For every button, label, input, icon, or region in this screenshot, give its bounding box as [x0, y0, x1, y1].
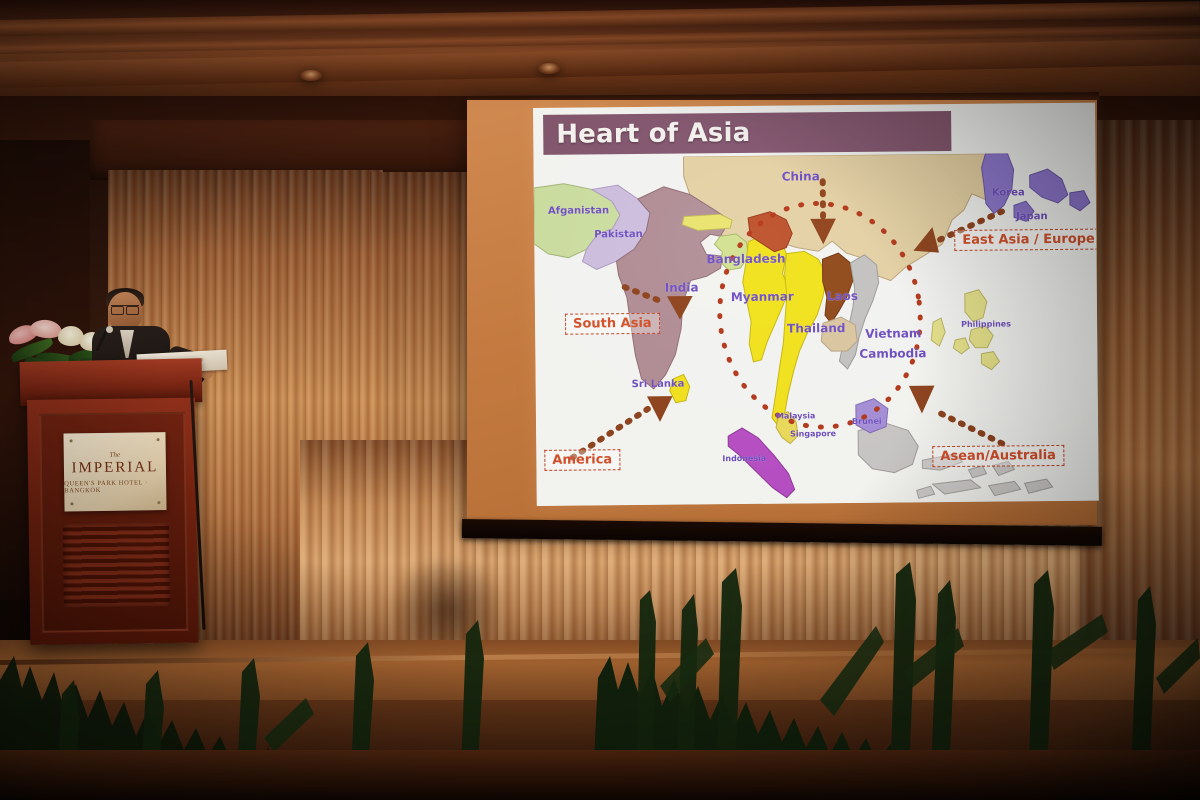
- map-label-afganistan: Afganistan: [548, 205, 609, 217]
- map-label-japan: Japan: [1016, 211, 1048, 222]
- page-title: Heart of Asia: [556, 118, 750, 150]
- map-label-sri-lanka: Sri Lanka: [632, 379, 685, 391]
- ceiling-downlight-icon: [300, 70, 322, 81]
- map-label-brunei: Brunei: [852, 417, 882, 426]
- hotel-plaque-the: The: [109, 450, 120, 458]
- map-label-india: India: [665, 280, 699, 294]
- map-label-korea: Korea: [992, 187, 1025, 198]
- map-label-indonesia: Indonesia: [722, 454, 766, 463]
- map-label-philippines: Philippines: [961, 319, 1011, 328]
- planter-box: [0, 750, 1200, 800]
- speaker-glasses: [111, 305, 139, 313]
- stage-curtain-right: [1080, 120, 1200, 680]
- map-label-cambodia: Cambodia: [859, 346, 926, 361]
- podium-front-panel: The IMPERIAL QUEEN'S PARK HOTEL · BANGKO…: [39, 412, 188, 633]
- map-label-pakistan: Pakistan: [594, 229, 643, 240]
- map-label-china: China: [782, 169, 820, 183]
- callout-america[interactable]: America: [544, 449, 620, 471]
- asia-map: Afganistan Pakistan India Bangladesh Chi…: [533, 153, 1098, 506]
- presentation-slide[interactable]: Heart of Asia: [533, 103, 1099, 506]
- map-label-vietnam: Vietnam: [865, 326, 921, 341]
- podium: The IMPERIAL QUEEN'S PARK HOTEL · BANGKO…: [27, 398, 198, 645]
- conference-hall-photo: Heart of Asia: [0, 0, 1200, 800]
- callout-south-asia[interactable]: South Asia: [565, 313, 660, 335]
- hotel-plaque-name: IMPERIAL: [71, 459, 158, 477]
- map-label-singapore: Singapore: [790, 429, 836, 438]
- map-label-myanmar: Myanmar: [731, 290, 794, 305]
- callout-east-asia-europe[interactable]: East Asia / Europe: [954, 229, 1099, 251]
- podium-louvers: [63, 522, 170, 607]
- map-label-laos: Laos: [827, 289, 858, 303]
- speaker-shadow: [390, 555, 505, 645]
- microphone-head: [106, 326, 113, 333]
- ceiling-downlight-icon: [538, 63, 560, 74]
- hotel-plaque: The IMPERIAL QUEEN'S PARK HOTEL · BANGKO…: [63, 432, 166, 511]
- map-label-bangladesh: Bangladesh: [706, 252, 785, 267]
- map-label-thailand: Thailand: [787, 321, 845, 336]
- callout-asean-australia[interactable]: Asean/Australia: [932, 445, 1064, 467]
- map-label-malaysia: Malaysia: [776, 411, 815, 420]
- slide-title-bar: Heart of Asia: [543, 111, 951, 155]
- hotel-plaque-subtitle: QUEEN'S PARK HOTEL · BANGKOK: [64, 479, 166, 494]
